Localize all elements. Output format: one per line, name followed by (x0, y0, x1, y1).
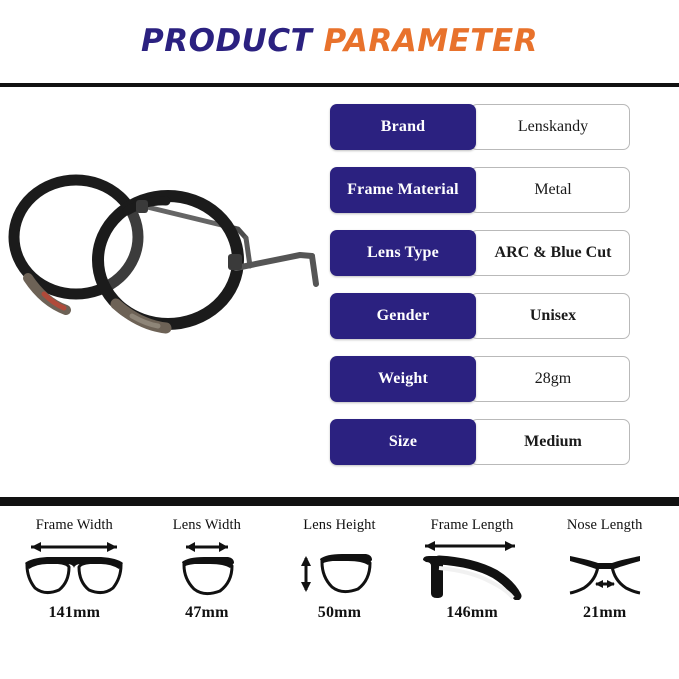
lens-height-icon (280, 538, 398, 600)
page-title-accent: PARAMETER (324, 23, 538, 59)
product-image (0, 88, 322, 497)
header-divider (0, 83, 679, 87)
measurement-frame-width: Frame Width 141mm (8, 514, 141, 622)
single-lens-icon (148, 538, 266, 600)
measurement-label: Frame Length (431, 514, 514, 536)
product-parameter-page: PRODUCT PARAMETER (0, 0, 679, 679)
spec-label-lens-type: Lens Type (330, 230, 476, 276)
table-row: Weight 28gm (330, 356, 630, 402)
measurement-value: 141mm (48, 604, 100, 622)
table-row: Lens Type ARC & Blue Cut (330, 230, 630, 276)
page-title: PRODUCT PARAMETER (141, 26, 538, 57)
spec-label-weight: Weight (330, 356, 476, 402)
page-header: PRODUCT PARAMETER (0, 0, 679, 83)
spec-value-size: Medium (470, 419, 630, 465)
spec-label-size: Size (330, 419, 476, 465)
spec-value-gender: Unisex (470, 293, 630, 339)
measurement-value: 21mm (583, 604, 626, 622)
spec-label-brand: Brand (330, 104, 476, 150)
temple-arm-icon (413, 538, 531, 600)
measurement-lens-height: Lens Height 50mm (273, 514, 406, 622)
spec-value-weight: 28gm (470, 356, 630, 402)
specification-table: Brand Lenskandy Frame Material Metal Len… (330, 104, 630, 465)
measurement-label: Nose Length (567, 514, 643, 536)
table-row: Gender Unisex (330, 293, 630, 339)
measurement-label: Frame Width (36, 514, 113, 536)
spec-label-gender: Gender (330, 293, 476, 339)
table-row: Size Medium (330, 419, 630, 465)
measurement-value: 47mm (185, 604, 228, 622)
table-row: Frame Material Metal (330, 167, 630, 213)
measurement-value: 146mm (446, 604, 498, 622)
measurement-frame-length: Frame Length 146mm (406, 514, 539, 622)
measurements-section: Frame Width 141mm Lens Width (0, 514, 679, 654)
spec-value-frame-material: Metal (470, 167, 630, 213)
product-overview-section: Brand Lenskandy Frame Material Metal Len… (0, 88, 679, 497)
measurement-label: Lens Width (173, 514, 241, 536)
table-row: Brand Lenskandy (330, 104, 630, 150)
eyeglasses-illustration (0, 88, 322, 497)
spec-value-brand: Lenskandy (470, 104, 630, 150)
spec-value-lens-type: ARC & Blue Cut (470, 230, 630, 276)
page-title-primary: PRODUCT (141, 23, 312, 59)
measurement-value: 50mm (318, 604, 361, 622)
measurement-label: Lens Height (303, 514, 375, 536)
measurement-nose-length: Nose Length 21mm (538, 514, 671, 622)
measurements-divider (0, 497, 679, 506)
spec-label-frame-material: Frame Material (330, 167, 476, 213)
frame-front-icon (15, 538, 133, 600)
measurement-lens-width: Lens Width 47mm (141, 514, 274, 622)
nose-bridge-icon (546, 538, 664, 600)
